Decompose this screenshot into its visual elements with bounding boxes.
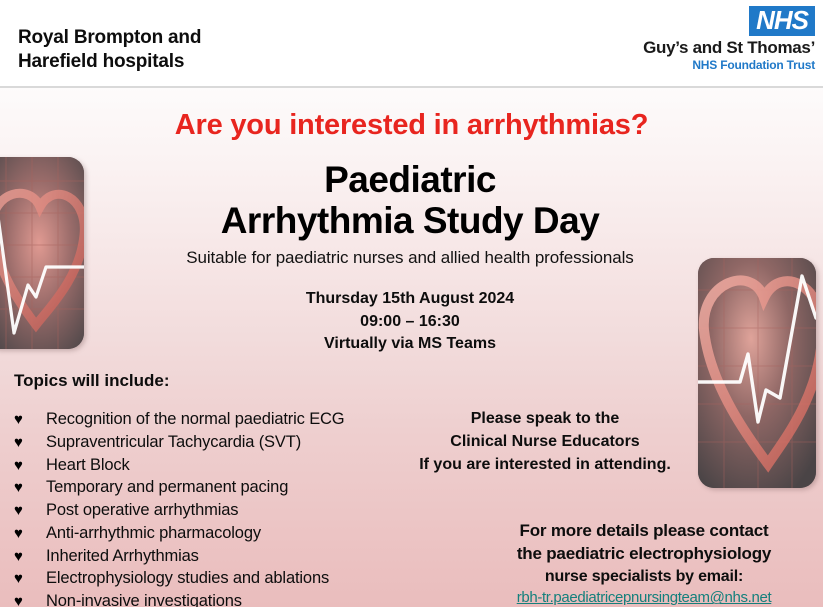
nhs-logo: NHS Guy’s and St Thomas’ NHS Foundation … [605,6,815,72]
topic-label: Temporary and permanent pacing [46,476,434,499]
header-band: Royal Brompton and Harefield hospitals N… [0,0,823,88]
heart-bullet-icon: ♥ [14,501,46,522]
heart-bullet-icon: ♥ [14,410,46,431]
list-item: ♥Inherited Arrhythmias [14,545,434,568]
list-item: ♥Heart Block [14,454,434,477]
topic-label: Electrophysiology studies and ablations [46,567,434,590]
event-date: Thursday 15th August 2024 [160,288,660,311]
topics-list: ♥Recognition of the normal paediatric EC… [14,408,434,607]
heart-bullet-icon: ♥ [14,433,46,454]
trust-name: Royal Brompton and Harefield hospitals [18,26,201,75]
topic-label: Supraventricular Tachycardia (SVT) [46,431,434,454]
speak-to-educators-note: Please speak to the Clinical Nurse Educa… [400,408,690,477]
ecg-heart-icon [698,258,816,488]
list-item: ♥Post operative arrhythmias [14,499,434,522]
poster-root: Royal Brompton and Harefield hospitals N… [0,0,823,607]
speak-line-1: Please speak to the [400,408,690,431]
heart-bullet-icon: ♥ [14,456,46,477]
topic-label: Anti-arrhythmic pharmacology [46,522,434,545]
ecg-heart-image-left [0,157,84,349]
page-title-line-1: Paediatric [120,159,700,200]
topic-label: Post operative arrhythmias [46,499,434,522]
contact-line-3: nurse specialists by email: [470,566,818,588]
topic-label: Recognition of the normal paediatric ECG [46,408,434,431]
contact-block: For more details please contact the paed… [470,520,818,607]
list-item: ♥Supraventricular Tachycardia (SVT) [14,431,434,454]
list-item: ♥Electrophysiology studies and ablations [14,567,434,590]
contact-line-1: For more details please contact [470,520,818,543]
list-item: ♥Temporary and permanent pacing [14,476,434,499]
title-block: Paediatric Arrhythmia Study Day Suitable… [120,159,700,268]
ecg-heart-image-right [698,258,816,488]
list-item: ♥Anti-arrhythmic pharmacology [14,522,434,545]
topics-heading: Topics will include: [14,371,170,391]
page-title-line-2: Arrhythmia Study Day [120,200,700,241]
page-subtitle: Suitable for paediatric nurses and allie… [120,248,700,268]
speak-line-3: If you are interested in attending. [400,454,690,477]
heart-bullet-icon: ♥ [14,592,46,607]
event-time: 09:00 – 16:30 [160,311,660,334]
trust-partner-name: Guy’s and St Thomas’ [605,38,815,58]
event-details: Thursday 15th August 2024 09:00 – 16:30 … [160,288,660,356]
nhs-mark-icon: NHS [749,6,815,36]
event-location: Virtually via MS Teams [160,333,660,356]
poster-body: Are you interested in arrhythmias? Paedi… [0,88,823,607]
topic-label: Inherited Arrhythmias [46,545,434,568]
trust-foundation-label: NHS Foundation Trust [605,58,815,72]
heart-bullet-icon: ♥ [14,569,46,590]
list-item: ♥Non-invasive investigations [14,590,434,607]
contact-line-2: the paediatric electrophysiology [470,543,818,566]
contact-email-link[interactable]: rbh-tr.paediatricepnursingteam@nhs.net [470,588,818,607]
heart-bullet-icon: ♥ [14,478,46,499]
poster-headline: Are you interested in arrhythmias? [0,109,823,142]
topic-label: Non-invasive investigations [46,590,434,607]
ecg-heart-icon [0,157,84,349]
heart-bullet-icon: ♥ [14,547,46,568]
heart-bullet-icon: ♥ [14,524,46,545]
list-item: ♥Recognition of the normal paediatric EC… [14,408,434,431]
speak-line-2: Clinical Nurse Educators [400,431,690,454]
topic-label: Heart Block [46,454,434,477]
